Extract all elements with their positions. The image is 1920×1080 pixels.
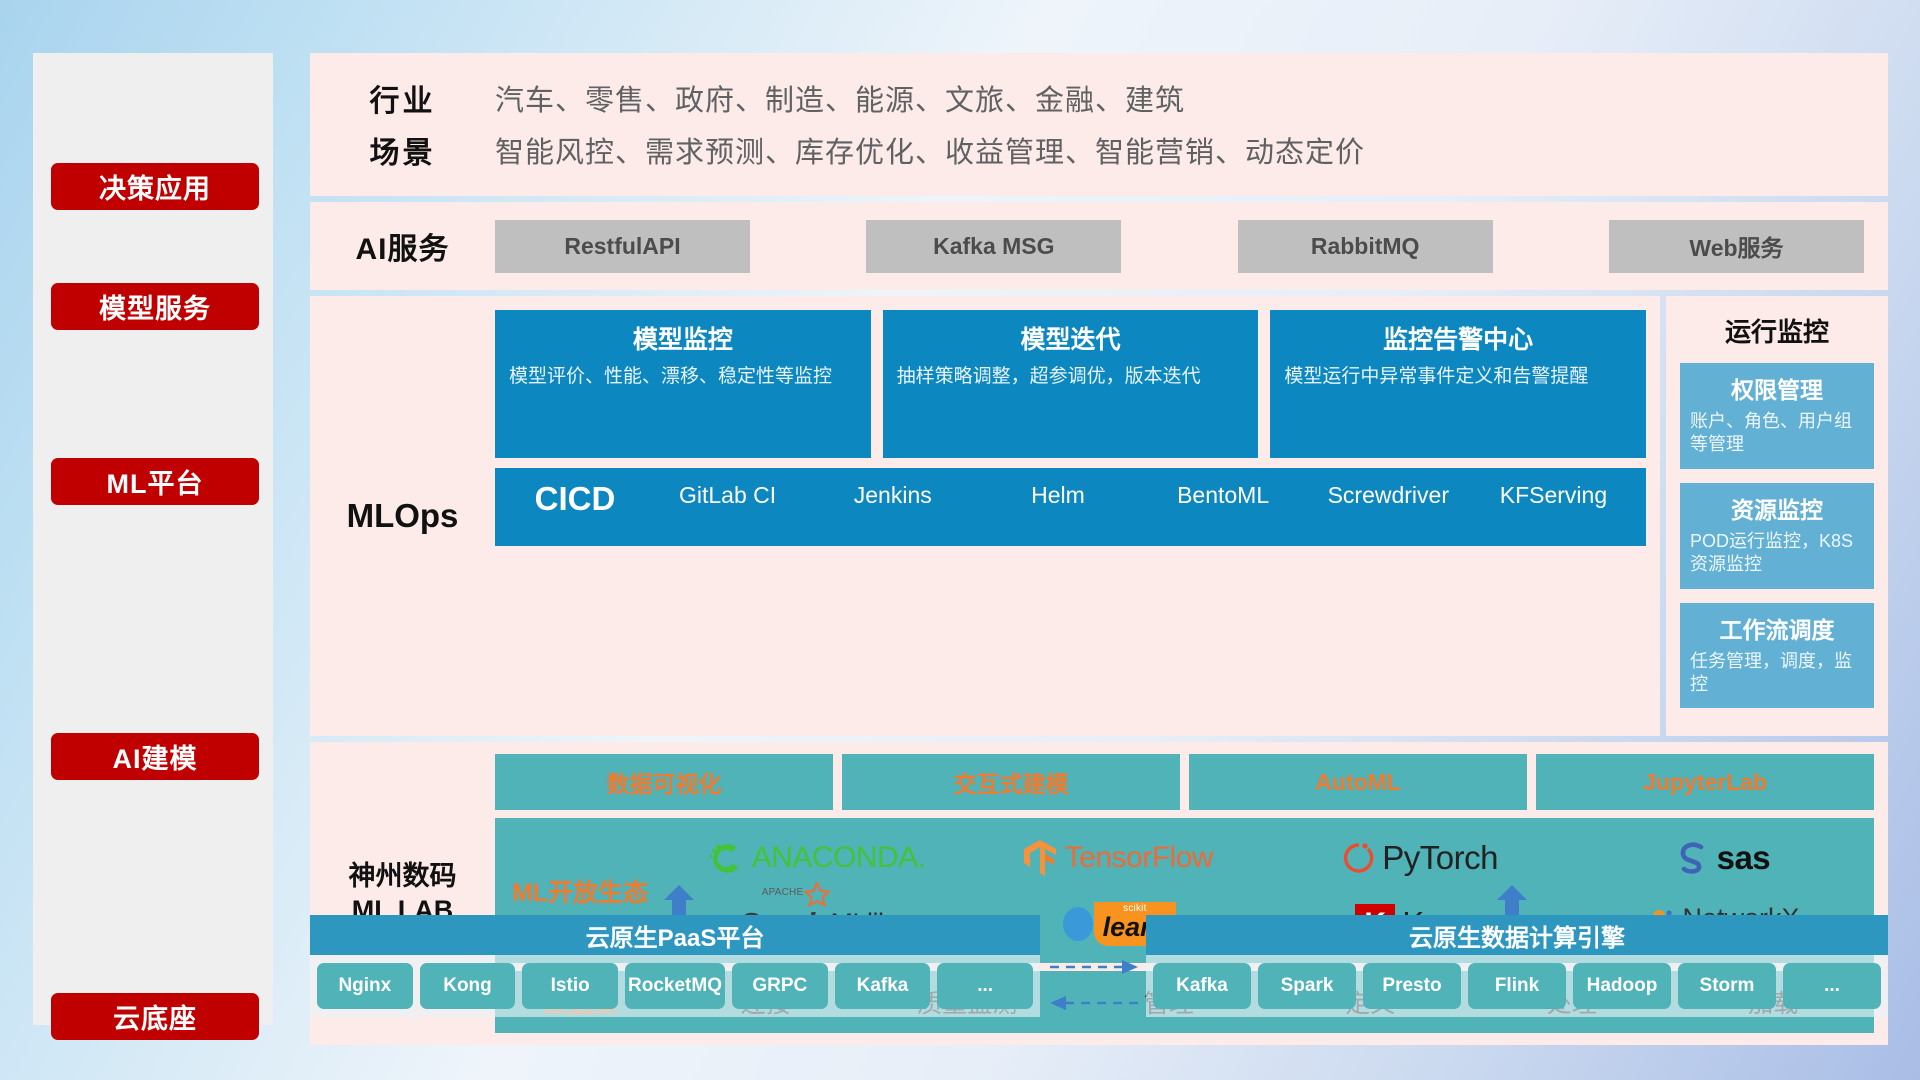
mlops-band: MLOps 模型监控 模型评价、性能、漂移、稳定性等监控 模型迭代 抽样策略调整…: [310, 296, 1888, 736]
mlops-main: MLOps 模型监控 模型评价、性能、漂移、稳定性等监控 模型迭代 抽样策略调整…: [310, 296, 1660, 736]
data-chip-kafka[interactable]: Kafka: [1153, 963, 1251, 1009]
paas-chip-list: Nginx Kong Istio RocketMQ GRPC Kafka ...: [310, 955, 1040, 1017]
mlops-label: MLOps: [310, 310, 495, 722]
paas-chip-rocketmq[interactable]: RocketMQ: [625, 963, 725, 1009]
paas-chip-more[interactable]: ...: [937, 963, 1033, 1009]
card-title: 工作流调度: [1690, 611, 1864, 645]
tool-interactive-modeling[interactable]: 交互式建模: [842, 754, 1180, 810]
tool-jupyterlab[interactable]: JupyterLab: [1536, 754, 1874, 810]
data-chip-more[interactable]: ...: [1783, 963, 1881, 1009]
rail-label: ML平台: [107, 462, 204, 501]
rail-item-decision-app[interactable]: 决策应用: [51, 163, 259, 210]
card-desc: 抽样策略调整，超参调优，版本迭代: [897, 364, 1245, 389]
card-title: 权限管理: [1690, 371, 1864, 405]
rail-label: AI建模: [113, 737, 198, 776]
card-title: 资源监控: [1690, 491, 1864, 525]
card-title: 模型监控: [509, 320, 857, 356]
sas-icon: [1676, 840, 1710, 876]
ai-service-restfulapi[interactable]: RestfulAPI: [495, 220, 750, 273]
industry-value: 汽车、零售、政府、制造、能源、文旅、金融、建筑: [495, 77, 1185, 119]
tensorflow-icon: [1024, 838, 1058, 878]
data-chip-storm[interactable]: Storm: [1678, 963, 1776, 1009]
card-desc: 模型评价、性能、漂移、稳定性等监控: [509, 364, 857, 389]
mlops-card-list: 模型监控 模型评价、性能、漂移、稳定性等监控 模型迭代 抽样策略调整，超参调优，…: [495, 310, 1646, 458]
rail-label: 云底座: [113, 997, 197, 1036]
monitor-card-resource[interactable]: 资源监控 POD运行监控，K8S资源监控: [1680, 483, 1874, 589]
ai-service-label: AI服务: [310, 224, 495, 268]
cicd-item-gitlab-ci[interactable]: GitLab CI: [645, 482, 810, 508]
left-rail: 决策应用 模型服务 ML平台 AI建模 云底座: [33, 53, 273, 1025]
cloud-foundation-zone: 云原生PaaS平台 Nginx Kong Istio RocketMQ GRPC…: [310, 885, 1888, 1025]
mlops-card-model-monitoring[interactable]: 模型监控 模型评价、性能、漂移、稳定性等监控: [495, 310, 871, 458]
paas-chip-kong[interactable]: Kong: [420, 963, 516, 1009]
data-chip-flink[interactable]: Flink: [1468, 963, 1566, 1009]
cicd-item-kfserving[interactable]: KFServing: [1471, 482, 1636, 508]
cicd-item-bentoml[interactable]: BentoML: [1141, 482, 1306, 508]
card-desc: 任务管理，调度，监控: [1690, 650, 1864, 697]
scenario-row: 场景 智能风控、需求预测、库存优化、收益管理、智能营销、动态定价: [310, 124, 1888, 176]
scenario-value: 智能风控、需求预测、库存优化、收益管理、智能营销、动态定价: [495, 129, 1365, 171]
cicd-title: CICD: [505, 482, 645, 517]
card-desc: POD运行监控，K8S资源监控: [1690, 530, 1864, 577]
cicd-item-helm[interactable]: Helm: [975, 482, 1140, 508]
paas-chip-nginx[interactable]: Nginx: [317, 963, 413, 1009]
rail-item-ml-platform[interactable]: ML平台: [51, 458, 259, 505]
data-engine-title: 云原生数据计算引擎: [1146, 915, 1888, 955]
ai-service-rabbitmq[interactable]: RabbitMQ: [1238, 220, 1493, 273]
pytorch-wordmark: PyTorch: [1382, 839, 1498, 877]
rail-label: 决策应用: [99, 167, 211, 206]
paas-group: 云原生PaaS平台 Nginx Kong Istio RocketMQ GRPC…: [310, 915, 1040, 1017]
scenario-key: 场景: [310, 128, 495, 172]
sas-logo: sas: [1676, 825, 1771, 891]
ai-service-web[interactable]: Web服务: [1609, 220, 1864, 273]
paas-chip-grpc[interactable]: GRPC: [732, 963, 828, 1009]
paas-chip-istio[interactable]: Istio: [522, 963, 618, 1009]
rail-item-cloud-foundation[interactable]: 云底座: [51, 993, 259, 1040]
data-engine-chip-list: Kafka Spark Presto Flink Hadoop Storm ..…: [1146, 955, 1888, 1017]
card-desc: 模型运行中异常事件定义和告警提醒: [1284, 364, 1632, 389]
runtime-monitoring-title: 运行监控: [1680, 312, 1874, 349]
rail-item-model-service[interactable]: 模型服务: [51, 283, 259, 330]
industry-key: 行业: [310, 76, 495, 120]
data-engine-group: 云原生数据计算引擎 Kafka Spark Presto Flink Hadoo…: [1146, 915, 1888, 1017]
monitor-card-permission[interactable]: 权限管理 账户、角色、用户组等管理: [1680, 363, 1874, 469]
bidirectional-dashed-arrows: [1048, 953, 1140, 1015]
rail-item-ai-modeling[interactable]: AI建模: [51, 733, 259, 780]
rail-label: 模型服务: [99, 287, 211, 326]
paas-up-arrow-icon: [662, 885, 696, 917]
industry-row: 行业 汽车、零售、政府、制造、能源、文旅、金融、建筑: [310, 72, 1888, 124]
card-title: 模型迭代: [897, 320, 1245, 356]
paas-title: 云原生PaaS平台: [310, 915, 1040, 955]
sas-wordmark: sas: [1717, 839, 1771, 877]
industry-scenario-band: 行业 汽车、零售、政府、制造、能源、文旅、金融、建筑 场景 智能风控、需求预测、…: [310, 53, 1888, 196]
cicd-bar: CICD GitLab CI Jenkins Helm BentoML Scre…: [495, 468, 1646, 546]
mlops-card-alert-center[interactable]: 监控告警中心 模型运行中异常事件定义和告警提醒: [1270, 310, 1646, 458]
mlops-content: 模型监控 模型评价、性能、漂移、稳定性等监控 模型迭代 抽样策略调整，超参调优，…: [495, 310, 1660, 722]
cicd-item-screwdriver[interactable]: Screwdriver: [1306, 482, 1471, 508]
paas-chip-kafka[interactable]: Kafka: [835, 963, 931, 1009]
anaconda-wordmark: ANACONDA.: [752, 841, 926, 875]
mlops-card-model-iteration[interactable]: 模型迭代 抽样策略调整，超参调优，版本迭代: [883, 310, 1259, 458]
tool-automl[interactable]: AutoML: [1189, 754, 1527, 810]
ai-service-kafka-msg[interactable]: Kafka MSG: [866, 220, 1121, 273]
ai-service-items: RestfulAPI Kafka MSG RabbitMQ Web服务: [495, 220, 1888, 273]
tensorflow-wordmark: TensorFlow: [1065, 841, 1213, 875]
data-chip-presto[interactable]: Presto: [1363, 963, 1461, 1009]
runtime-monitoring-column: 运行监控 权限管理 账户、角色、用户组等管理 资源监控 POD运行监控，K8S资…: [1666, 296, 1888, 736]
tool-data-visualization[interactable]: 数据可视化: [495, 754, 833, 810]
modeling-tool-row: 数据可视化 交互式建模 AutoML JupyterLab: [495, 754, 1874, 810]
tensorflow-logo: TensorFlow: [1024, 825, 1213, 891]
pytorch-icon: [1343, 840, 1375, 876]
anaconda-icon: [707, 839, 745, 877]
data-chip-hadoop[interactable]: Hadoop: [1573, 963, 1671, 1009]
cicd-item-jenkins[interactable]: Jenkins: [810, 482, 975, 508]
pytorch-logo: PyTorch: [1343, 825, 1498, 891]
data-engine-up-arrow-icon: [1495, 885, 1529, 917]
card-title: 监控告警中心: [1284, 320, 1632, 356]
monitor-card-workflow[interactable]: 工作流调度 任务管理，调度，监控: [1680, 603, 1874, 709]
ai-service-band: AI服务 RestfulAPI Kafka MSG RabbitMQ Web服务: [310, 202, 1888, 290]
data-chip-spark[interactable]: Spark: [1258, 963, 1356, 1009]
card-desc: 账户、角色、用户组等管理: [1690, 410, 1864, 457]
